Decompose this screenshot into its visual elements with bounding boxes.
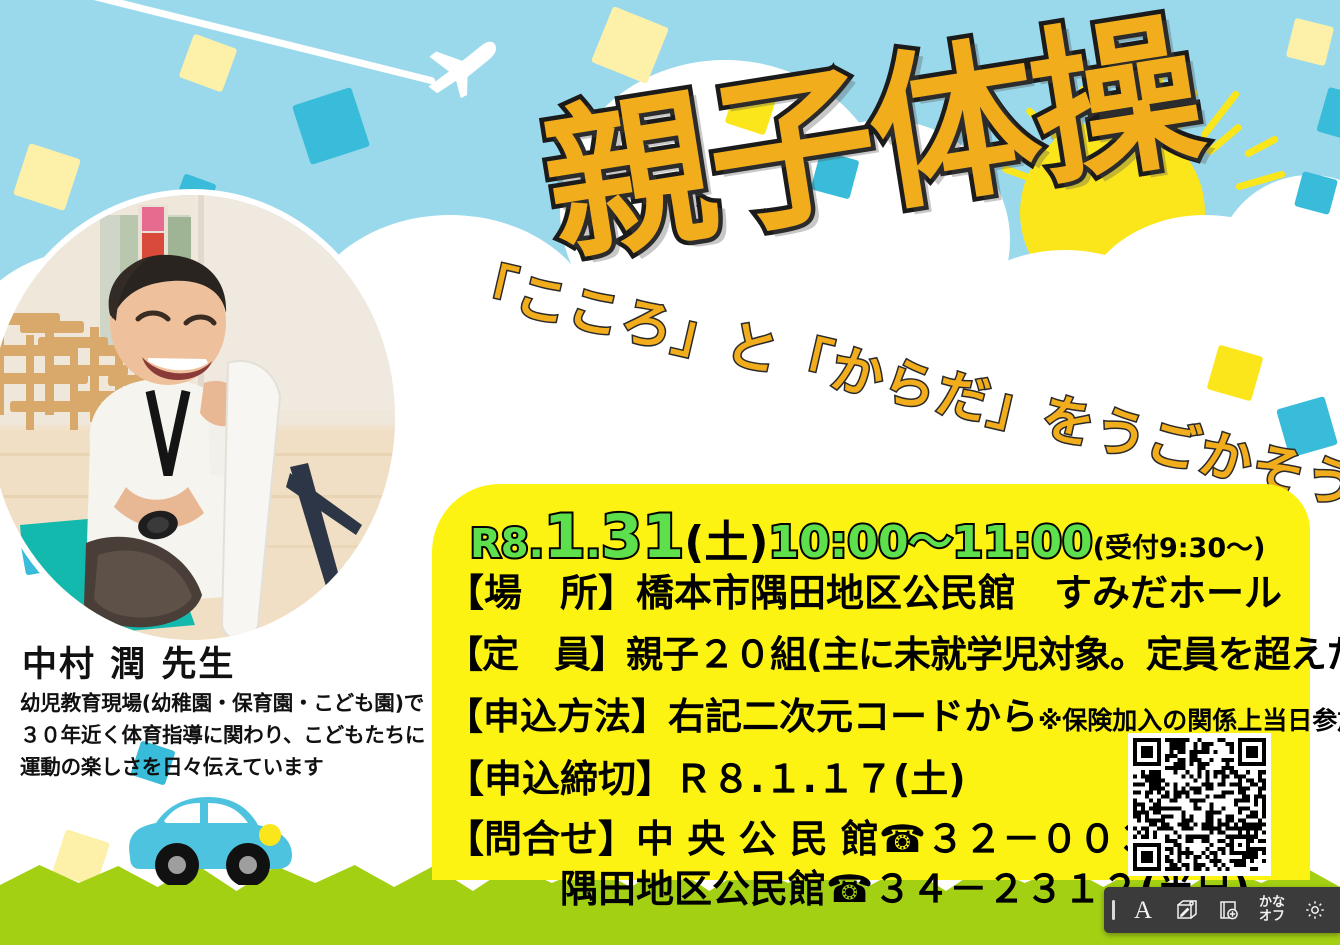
input-mode-button[interactable]: A xyxy=(1128,894,1158,926)
kana-mode-line1: かな xyxy=(1257,896,1287,910)
date-time: 10:00〜11:00 xyxy=(769,517,1093,568)
gear-icon[interactable] xyxy=(1300,894,1330,926)
kana-mode-button[interactable]: かな オフ xyxy=(1257,896,1287,923)
info-row-contact: 【問合せ】中 央 公 民 館☎３２－００３４ xyxy=(446,808,1192,863)
info-value-contact: 中 央 公 民 館☎３２－００３４ xyxy=(636,817,1192,861)
info-row-method: 【申込方法】右記二次元コードから※保険加入の関係上当日参加不可 xyxy=(446,686,1340,740)
add-note-icon[interactable] xyxy=(1214,894,1244,926)
kana-mode-line2: オフ xyxy=(1257,910,1287,924)
info-row-capacity: 【定 員】親子２０組(主に未就学児対象。定員を超えた場合は抽選。) xyxy=(446,624,1340,678)
poster-canvas: 親子体操 「こころ」と「からだ」をうごかそう 中村 潤 先生 幼児教育現場(幼稚… xyxy=(0,0,1340,945)
info-note-method: ※保険加入の関係上当日参加不可 xyxy=(1038,706,1340,735)
ink-pen-icon[interactable] xyxy=(1171,894,1201,926)
info-value-capacity: 親子２０組(主に未就学児対象。定員を超えた場合は抽選。) xyxy=(626,633,1340,676)
info-row-deadline: 【申込締切】Ｒ８.１.１７(土) xyxy=(446,748,966,803)
instructor-bio: 幼児教育現場(幼稚園・保育園・こども園)で３０年近く体育指導に関わり、こどもたち… xyxy=(20,688,430,783)
date-era: R8. xyxy=(470,521,544,567)
info-value-deadline: Ｒ８.１.１７(土) xyxy=(674,757,966,801)
info-value-method: 右記二次元コードから xyxy=(668,695,1038,738)
info-label-contact: 【問合せ】 xyxy=(446,817,636,861)
info-value-place: 橋本市隅田地区公民館 すみだホール xyxy=(636,571,1282,615)
info-label-place: 【場 所】 xyxy=(446,571,636,615)
info-row-place: 【場 所】橋本市隅田地区公民館 すみだホール xyxy=(446,562,1282,617)
info-label-method: 【申込方法】 xyxy=(446,695,668,738)
info-label-capacity: 【定 員】 xyxy=(446,633,626,676)
instructor-photo xyxy=(0,195,395,640)
date-reception: (受付9:30〜) xyxy=(1093,533,1266,564)
date-month-dot: . xyxy=(586,521,601,567)
airplane-icon xyxy=(415,30,505,100)
info-label-deadline: 【申込締切】 xyxy=(446,757,674,801)
qr-code[interactable] xyxy=(1128,733,1271,876)
drag-handle-icon[interactable] xyxy=(1112,900,1115,920)
car-icon xyxy=(120,785,300,885)
instructor-name: 中村 潤 先生 xyxy=(22,636,235,687)
date-weekday: (土) xyxy=(684,517,768,568)
ime-toolbar[interactable]: A かな オフ xyxy=(1104,887,1340,933)
